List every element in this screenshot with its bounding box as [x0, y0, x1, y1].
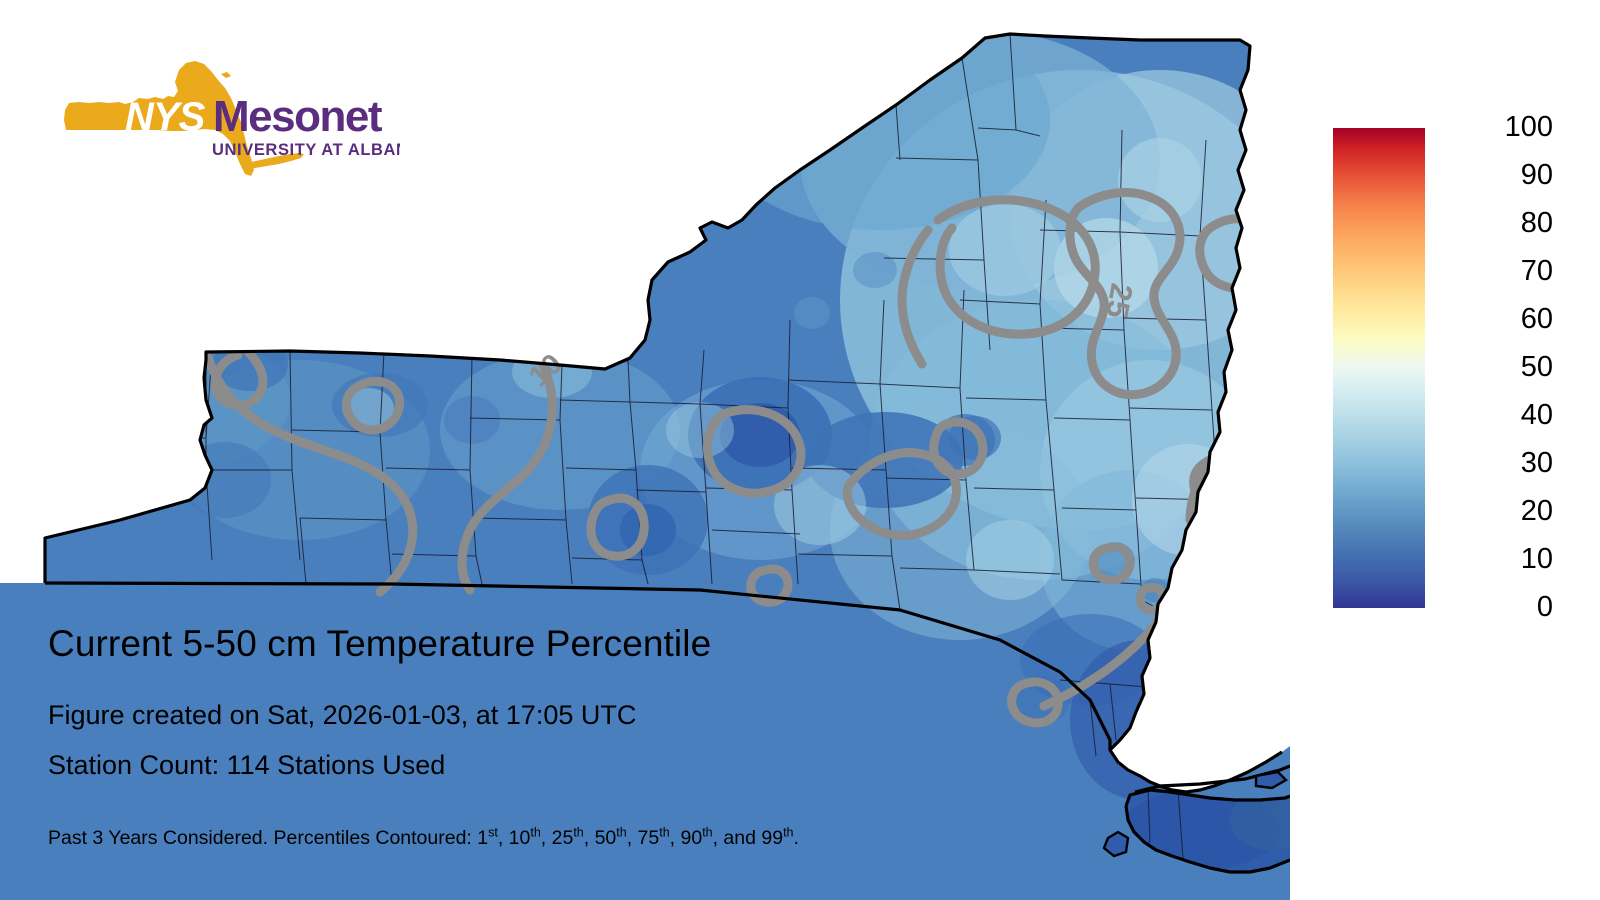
colorbar-tick-0: 0: [1537, 593, 1553, 622]
colorbar-tick-50: 50: [1521, 353, 1553, 382]
colorbar-tick-90: 90: [1521, 161, 1553, 190]
colorbar-gradient: [1333, 128, 1425, 608]
contour-footnote: Past 3 Years Considered. Percentiles Con…: [48, 827, 799, 850]
colorbar-tick-40: 40: [1521, 401, 1553, 430]
colorbar-tick-30: 30: [1521, 449, 1553, 478]
colorbar-tick-60: 60: [1521, 305, 1553, 334]
figure-canvas: NYS Mesonet UNIVERSITY AT ALBANY: [0, 0, 1600, 900]
station-count-line: Station Count: 114 Stations Used: [48, 750, 445, 781]
colorbar: 100 90 80 70 60 50 40 30 20 10 0: [1333, 123, 1583, 618]
colorbar-tick-labels: 100 90 80 70 60 50 40 30 20 10 0: [1433, 123, 1568, 615]
figure-created-line: Figure created on Sat, 2026-01-03, at 17…: [48, 700, 636, 731]
contour-label-25: 25: [1099, 281, 1139, 321]
svg-text:25: 25: [1099, 281, 1139, 321]
colorbar-tick-20: 20: [1521, 497, 1553, 526]
colorbar-tick-10: 10: [1521, 545, 1553, 574]
figure-title: Current 5-50 cm Temperature Percentile: [48, 623, 711, 665]
colorbar-tick-70: 70: [1521, 257, 1553, 286]
colorbar-tick-80: 80: [1521, 209, 1553, 238]
colorbar-tick-100: 100: [1505, 113, 1553, 142]
